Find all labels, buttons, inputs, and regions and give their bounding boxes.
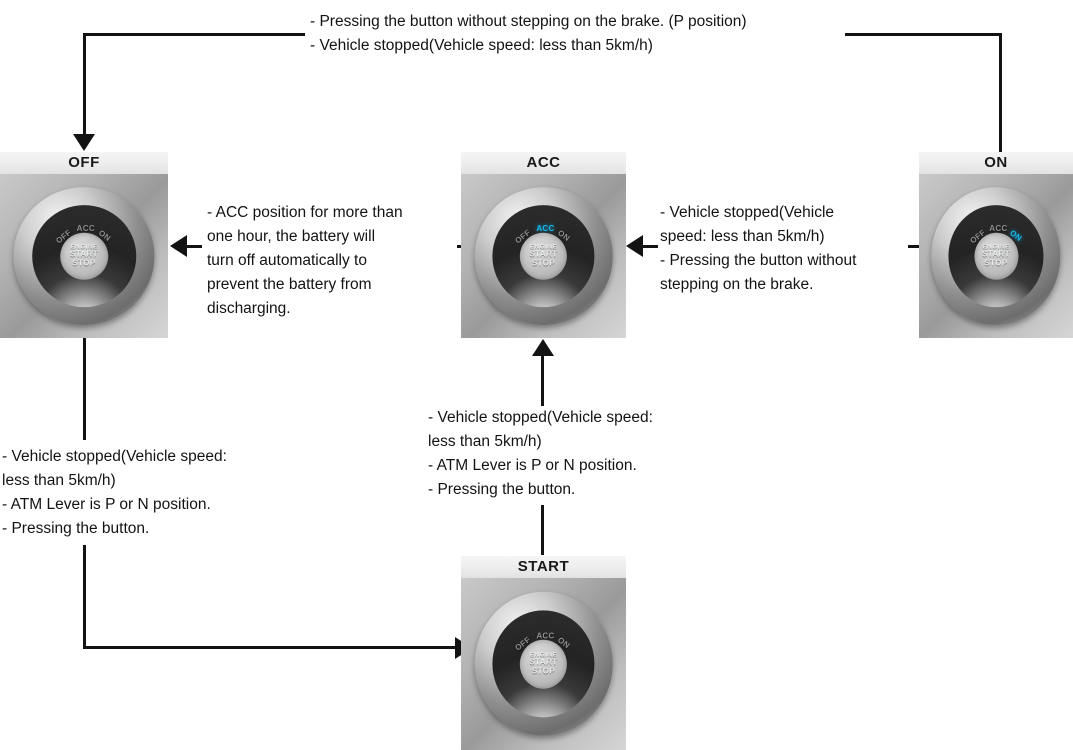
- face-line-stop: STOP: [532, 667, 555, 676]
- ignition-ring: OFF ACC ON ENGINE START STOP: [492, 611, 595, 718]
- connector-off-to-start-vertical-lower: [83, 545, 86, 649]
- face-line-stop: STOP: [984, 259, 1007, 268]
- arrowhead-to-off: [73, 134, 95, 151]
- ignition-button-start-header: START: [461, 556, 626, 578]
- ignition-bezel: OFF ACC ON ENGINE START STOP: [474, 592, 613, 736]
- connector-on-to-off-horizontal-b: [840, 33, 1002, 36]
- arrowhead-to-off-from-acc: [170, 235, 187, 257]
- ignition-bezel: OFF ACC ON ENGINE START STOP: [13, 187, 154, 325]
- ignition-button-off[interactable]: OFF OFF ACC ON ENGINE START STOP: [0, 152, 168, 338]
- ring-mark-acc: ACC: [536, 631, 554, 640]
- ignition-ring: OFF ACC ON ENGINE START STOP: [948, 205, 1044, 307]
- arrowhead-to-acc-from-start: [532, 339, 554, 356]
- transition-label-off-to-start: - Vehicle stopped(Vehicle speed: less th…: [2, 445, 287, 541]
- transition-label-on-to-off: - Pressing the button without stepping o…: [310, 10, 845, 58]
- ignition-face[interactable]: ENGINE START STOP: [974, 233, 1018, 280]
- ignition-face[interactable]: ENGINE START STOP: [520, 233, 567, 280]
- ignition-face[interactable]: ENGINE START STOP: [60, 233, 108, 280]
- connector-on-to-off-vertical-right: [999, 33, 1002, 158]
- ignition-ring: OFF ACC ON ENGINE START STOP: [32, 205, 136, 307]
- ignition-bezel: OFF ACC ON ENGINE START STOP: [931, 187, 1060, 325]
- ignition-button-off-image: OFF ACC ON ENGINE START STOP: [0, 174, 168, 338]
- transition-label-start-to-acc: - Vehicle stopped(Vehicle speed: less th…: [428, 406, 723, 502]
- ignition-button-start-image: OFF ACC ON ENGINE START STOP: [461, 578, 626, 750]
- connector-start-to-acc-vertical-upper: [541, 356, 544, 406]
- connector-start-to-acc-vertical-lower: [541, 505, 544, 555]
- transition-label-on-to-acc: - Vehicle stopped(Vehicle speed: less th…: [660, 201, 908, 297]
- ignition-button-acc-image: OFF ACC ON ENGINE START STOP: [461, 174, 626, 338]
- ignition-button-on-image: OFF ACC ON ENGINE START STOP: [919, 174, 1073, 338]
- ignition-button-acc-header: ACC: [461, 152, 626, 174]
- face-line-stop: STOP: [532, 259, 555, 268]
- ignition-bezel: OFF ACC ON ENGINE START STOP: [474, 187, 613, 325]
- connector-off-to-start-vertical-upper: [83, 338, 86, 440]
- ignition-button-start[interactable]: START OFF ACC ON ENGINE START STOP: [461, 556, 626, 750]
- ignition-button-on-header: ON: [919, 152, 1073, 174]
- connector-acc-to-off-stub-left: [186, 245, 202, 248]
- connector-on-to-off-horizontal-a: [83, 33, 305, 36]
- connector-on-to-off-vertical-left: [83, 33, 86, 135]
- arrowhead-to-acc-from-on: [626, 235, 643, 257]
- transition-label-acc-to-off: - ACC position for more than one hour, t…: [207, 201, 457, 321]
- ignition-ring: OFF ACC ON ENGINE START STOP: [492, 205, 595, 307]
- ignition-button-on[interactable]: ON OFF ACC ON ENGINE START STOP: [919, 152, 1073, 338]
- face-line-stop: STOP: [72, 259, 95, 268]
- ignition-face[interactable]: ENGINE START STOP: [520, 639, 567, 688]
- ignition-button-off-header: OFF: [0, 152, 168, 174]
- ignition-button-acc[interactable]: ACC OFF ACC ON ENGINE START STOP: [461, 152, 626, 338]
- connector-off-to-start-horizontal: [83, 646, 458, 649]
- state-diagram-canvas: - Pressing the button without stepping o…: [0, 0, 1073, 750]
